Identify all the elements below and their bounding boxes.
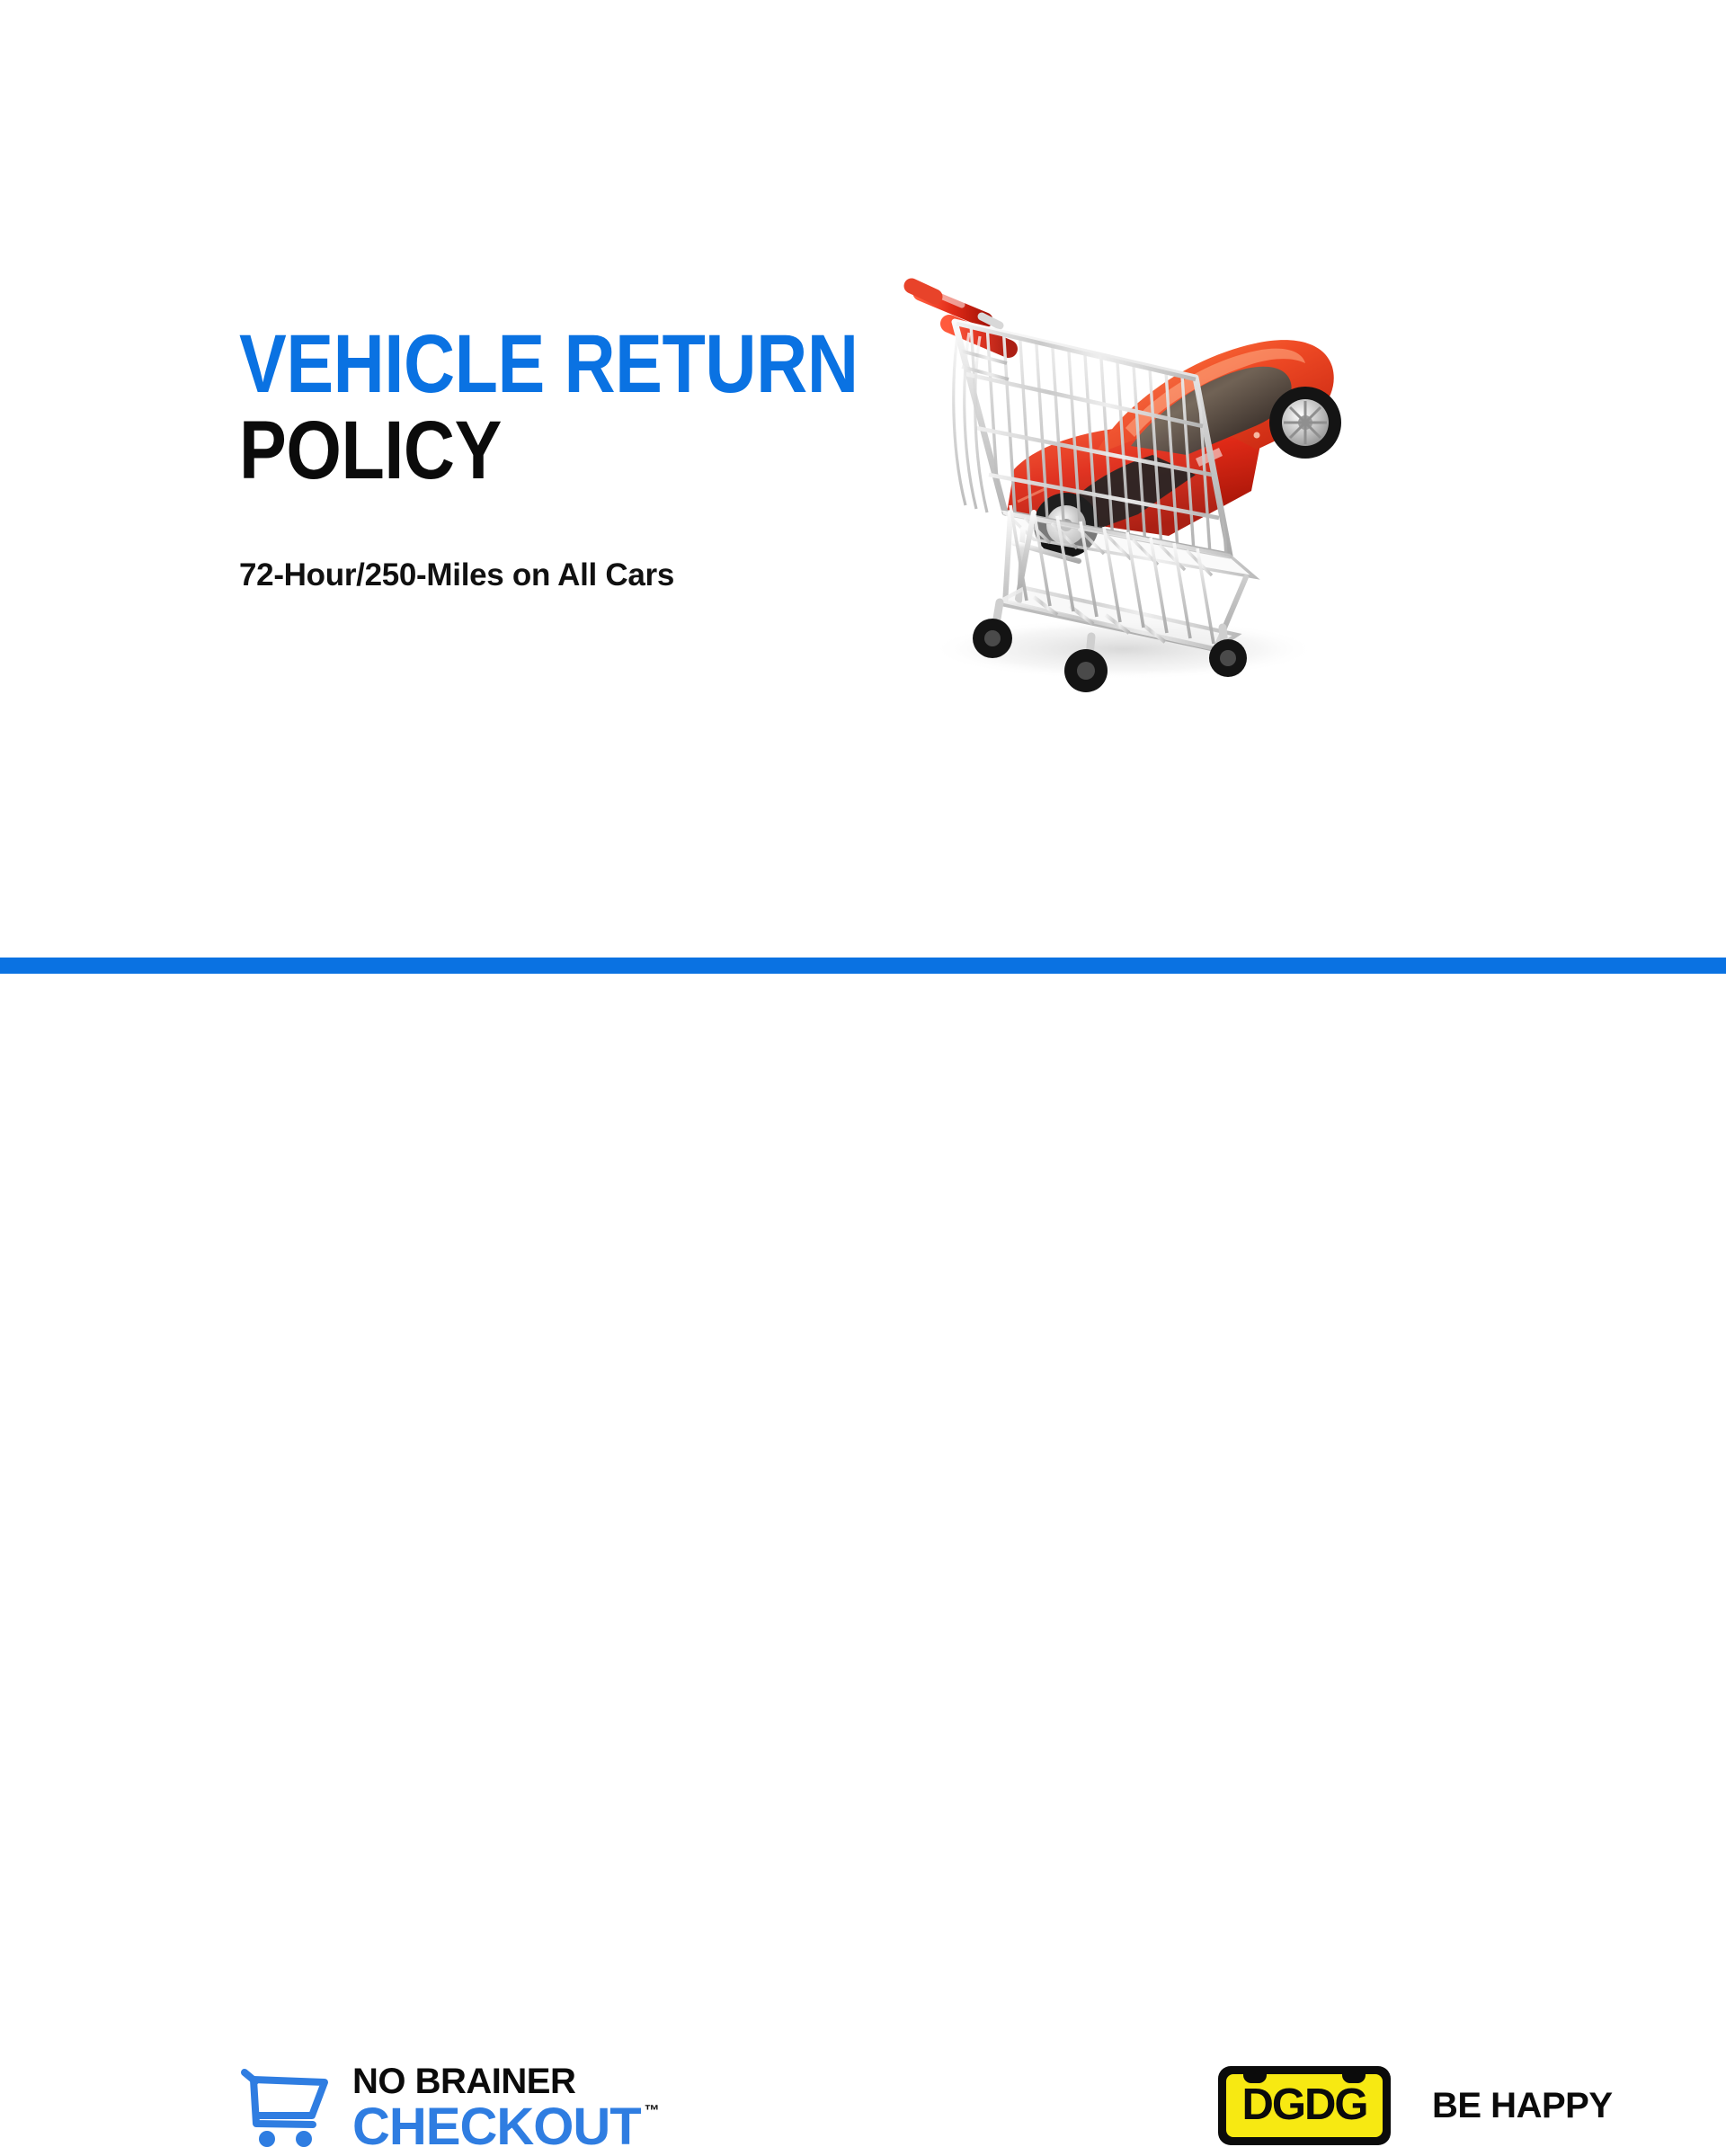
- headline-block: VEHICLE RETURN POLICY: [239, 324, 886, 491]
- plate-notch-left-icon: [1243, 2071, 1267, 2083]
- hero-image-cart-with-car: [899, 243, 1402, 782]
- banner-hero: VEHICLE RETURN POLICY 72-Hour/250-Miles …: [0, 0, 1726, 958]
- page-title-line2: POLICY: [239, 410, 796, 491]
- page-title-line1: VEHICLE RETURN: [239, 324, 796, 405]
- dgdg-tagline: BE HAPPY: [1432, 2086, 1613, 2126]
- plate-notch-right-icon: [1342, 2071, 1366, 2083]
- logo-text-no-brainer: NO BRAINER: [352, 2062, 575, 2101]
- no-brainer-checkout-wordmark: NO BRAINER CHECKOUT ™: [352, 2063, 660, 2153]
- dgdg-logo: DGDG BE HAPPY: [1218, 2066, 1613, 2145]
- dgdg-plate-text: DGDG: [1242, 2083, 1367, 2127]
- subtitle: 72-Hour/250-Miles on All Cars: [239, 557, 674, 593]
- footer: NO BRAINER CHECKOUT ™ DGDG BE HAPPY: [0, 974, 1726, 1295]
- shopping-cart-icon: [241, 2067, 333, 2150]
- no-brainer-checkout-logo: NO BRAINER CHECKOUT ™: [241, 2063, 660, 2153]
- logo-text-checkout: CHECKOUT: [352, 2101, 641, 2153]
- dgdg-plate-badge: DGDG: [1218, 2066, 1391, 2145]
- blue-divider-bar: [0, 958, 1726, 974]
- trademark-symbol: ™: [645, 2103, 660, 2118]
